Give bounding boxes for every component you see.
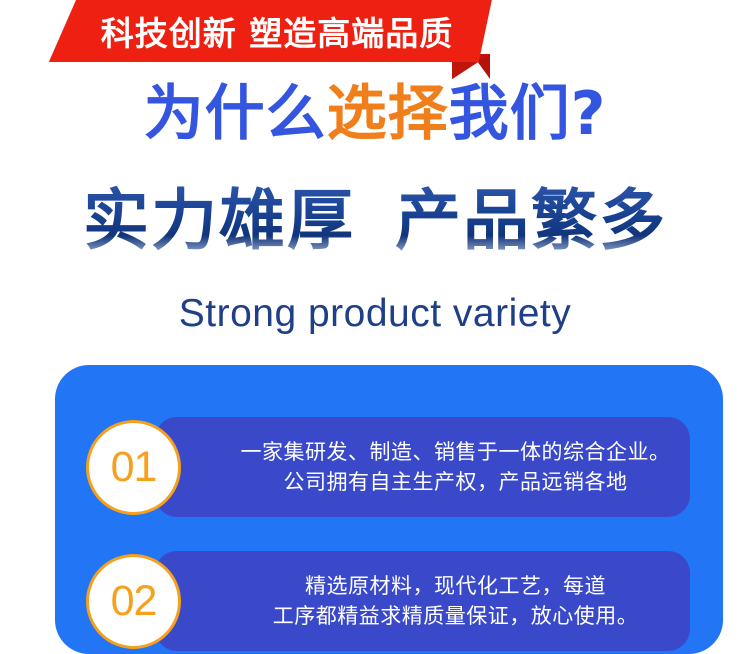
feature-item-02-line1: 精选原材料，现代化工艺，每道 — [273, 571, 639, 601]
feature-item-01-line1: 一家集研发、制造、销售于一体的综合企业。 — [241, 437, 671, 467]
feature-item-01-text: 一家集研发、制造、销售于一体的综合企业。 公司拥有自主生产权，产品远销各地 — [241, 437, 671, 498]
feature-item-01: 一家集研发、制造、销售于一体的综合企业。 公司拥有自主生产权，产品远销各地 01 — [55, 417, 723, 517]
headline-primary-part3: 我们? — [449, 79, 607, 149]
headline-secondary-left: 实力雄厚 — [83, 182, 355, 259]
feature-item-01-box: 一家集研发、制造、销售于一体的综合企业。 公司拥有自主生产权，产品远销各地 — [155, 417, 690, 517]
feature-item-02-line2: 工序都精益求精质量保证，放心使用。 — [273, 601, 639, 631]
promo-page: 科技创新 塑造高端品质 为什么选择我们? 实力雄厚产品繁多 Strong pro… — [0, 0, 750, 654]
feature-item-01-line2: 公司拥有自主生产权，产品远销各地 — [241, 467, 671, 497]
feature-item-02: 精选原材料，现代化工艺，每道 工序都精益求精质量保证，放心使用。 02 — [55, 551, 723, 651]
feature-item-01-badge: 01 — [86, 420, 181, 515]
ribbon-banner: 科技创新 塑造高端品质 — [0, 0, 750, 86]
features-panel: 一家集研发、制造、销售于一体的综合企业。 公司拥有自主生产权，产品远销各地 01… — [55, 365, 723, 654]
headline-secondary: 实力雄厚产品繁多 — [0, 186, 750, 255]
subtitle-english: Strong product variety — [0, 292, 750, 336]
feature-item-02-box: 精选原材料，现代化工艺，每道 工序都精益求精质量保证，放心使用。 — [155, 551, 690, 651]
headline-primary-part1: 为什么 — [144, 79, 327, 149]
headline-primary-part2: 选择 — [327, 79, 449, 149]
ribbon-text: 科技创新 塑造高端品质 — [101, 7, 454, 55]
headline-primary: 为什么选择我们? — [0, 84, 750, 144]
ribbon-text-wrap: 科技创新 塑造高端品质 — [62, 0, 492, 62]
feature-item-02-badge: 02 — [86, 554, 181, 649]
feature-item-01-number: 01 — [111, 443, 157, 492]
feature-item-02-text: 精选原材料，现代化工艺，每道 工序都精益求精质量保证，放心使用。 — [273, 571, 639, 632]
feature-item-02-number: 02 — [111, 577, 157, 626]
headline-secondary-right: 产品繁多 — [395, 182, 667, 259]
